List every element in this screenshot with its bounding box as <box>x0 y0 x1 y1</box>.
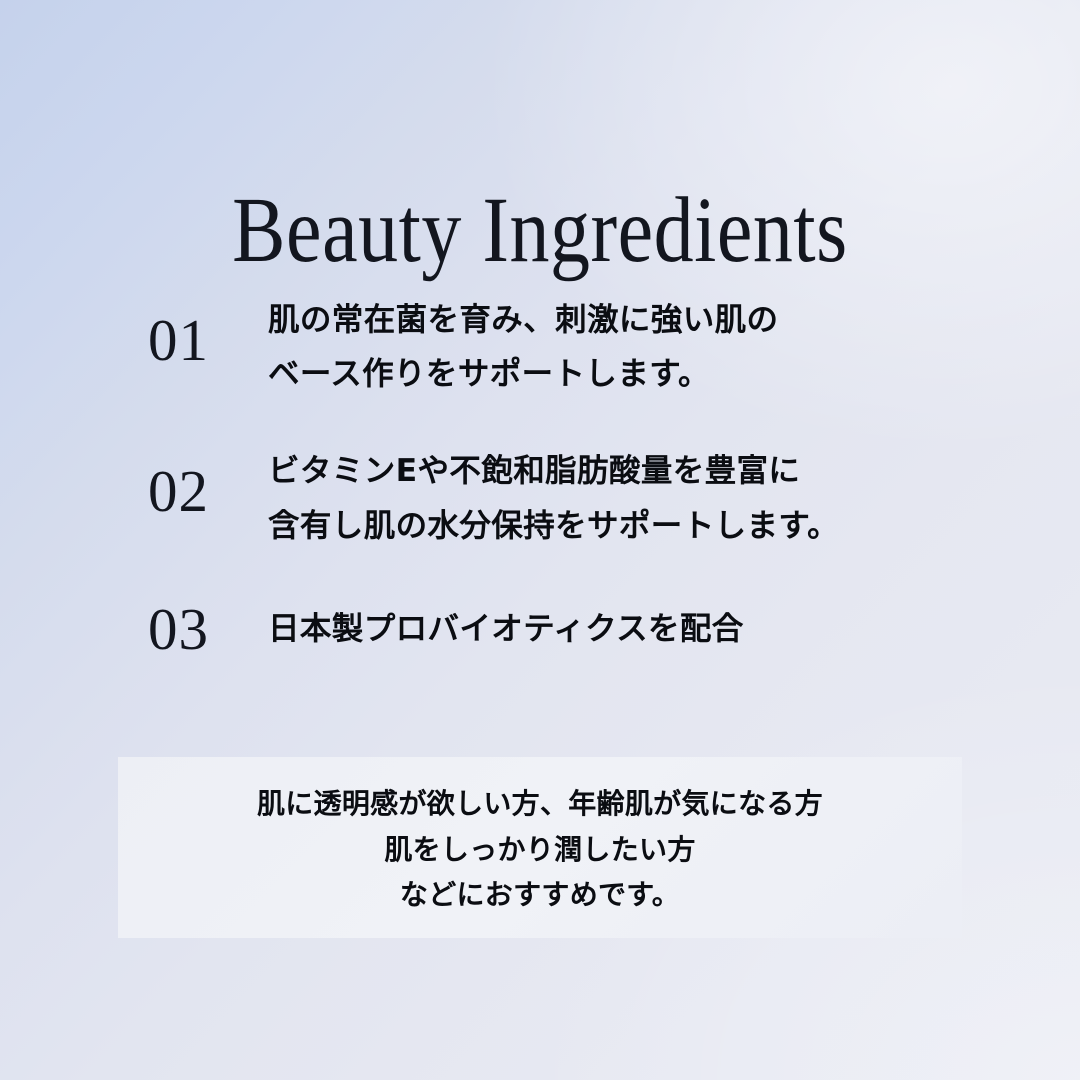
list-item-text: 肌の常在菌を育み、刺激に強い肌の ベース作りをサポートします。 <box>268 293 948 401</box>
list-item: 03 日本製プロバイオティクスを配合 <box>148 596 948 659</box>
recommendation-text: 肌に透明感が欲しい方、年齢肌が気になる方 肌をしっかり潤したい方 などにおすすめ… <box>257 781 823 917</box>
list-item-text: ビタミンEや不飽和脂肪酸量を豊富に 含有し肌の水分保持をサポートします。 <box>268 444 948 552</box>
list-item-number: 02 <box>148 444 268 521</box>
beauty-ingredients-poster: Beauty Ingredients 01 肌の常在菌を育み、刺激に強い肌の ベ… <box>0 0 1080 1080</box>
page-title: Beauty Ingredients <box>76 183 1005 280</box>
list-item-text: 日本製プロバイオティクスを配合 <box>268 596 948 656</box>
list-item-number: 03 <box>148 596 268 659</box>
recommendation-panel: 肌に透明感が欲しい方、年齢肌が気になる方 肌をしっかり潤したい方 などにおすすめ… <box>118 757 962 938</box>
list-item: 01 肌の常在菌を育み、刺激に強い肌の ベース作りをサポートします。 <box>148 293 948 401</box>
ingredients-list: 01 肌の常在菌を育み、刺激に強い肌の ベース作りをサポートします。 02 ビタ… <box>148 293 948 659</box>
list-item-number: 01 <box>148 293 268 370</box>
list-item: 02 ビタミンEや不飽和脂肪酸量を豊富に 含有し肌の水分保持をサポートします。 <box>148 444 948 552</box>
